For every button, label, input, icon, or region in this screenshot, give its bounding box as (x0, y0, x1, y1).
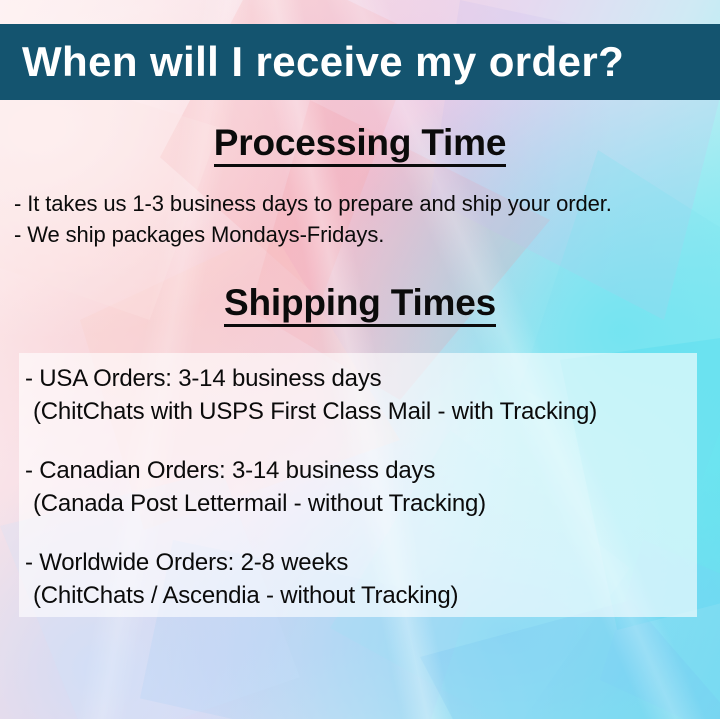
processing-time-list: - It takes us 1-3 business days to prepa… (0, 188, 720, 250)
shipping-times-list: - USA Orders: 3-14 business days (ChitCh… (0, 353, 720, 612)
shipping-group-sub: (Canada Post Lettermail - without Tracki… (25, 487, 720, 520)
shipping-group-sub: (ChitChats with USPS First Class Mail - … (25, 395, 720, 428)
processing-time-line: - It takes us 1-3 business days to prepa… (14, 188, 720, 219)
shipping-group-worldwide: - Worldwide Orders: 2-8 weeks (ChitChats… (0, 546, 720, 612)
shipping-group-main: - Worldwide Orders: 2-8 weeks (25, 546, 720, 579)
shipping-group-main: - Canadian Orders: 3-14 business days (25, 454, 720, 487)
processing-time-heading: Processing Time (0, 122, 720, 164)
main-content: Processing Time - It takes us 1-3 busine… (0, 100, 720, 324)
shipping-group-usa: - USA Orders: 3-14 business days (ChitCh… (0, 362, 720, 428)
shipping-times-heading: Shipping Times (0, 282, 720, 324)
page-title: When will I receive my order? (0, 38, 624, 86)
header-banner: When will I receive my order? (0, 24, 720, 100)
processing-time-line: - We ship packages Mondays-Fridays. (14, 219, 720, 250)
processing-time-heading-text: Processing Time (214, 122, 506, 167)
shipping-group-main: - USA Orders: 3-14 business days (25, 362, 720, 395)
shipping-group-sub: (ChitChats / Ascendia - without Tracking… (25, 579, 720, 612)
shipping-group-canada: - Canadian Orders: 3-14 business days (C… (0, 454, 720, 520)
shipping-times-heading-text: Shipping Times (224, 282, 496, 327)
shipping-info-graphic: When will I receive my order? Processing… (0, 0, 720, 719)
